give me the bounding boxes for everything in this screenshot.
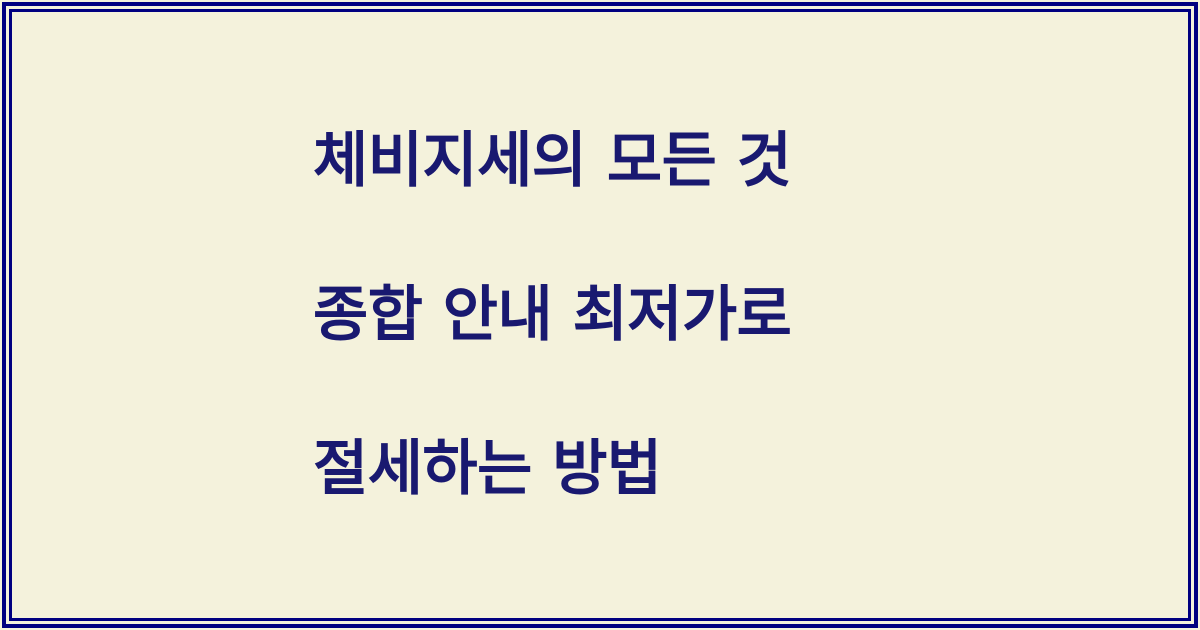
og-image-card: 체비지세의 모든 것 종합 안내 최저가로 절세하는 방법 [0,0,1200,630]
headline-line-1: 체비지세의 모든 것 [313,123,791,200]
headline-line-2: 종합 안내 최저가로 [313,277,791,354]
headline-container: 체비지세의 모든 것 종합 안내 최저가로 절세하는 방법 [0,0,1200,630]
headline-line-3: 절세하는 방법 [313,431,791,508]
page-title: 체비지세의 모든 것 종합 안내 최저가로 절세하는 방법 [0,46,791,585]
